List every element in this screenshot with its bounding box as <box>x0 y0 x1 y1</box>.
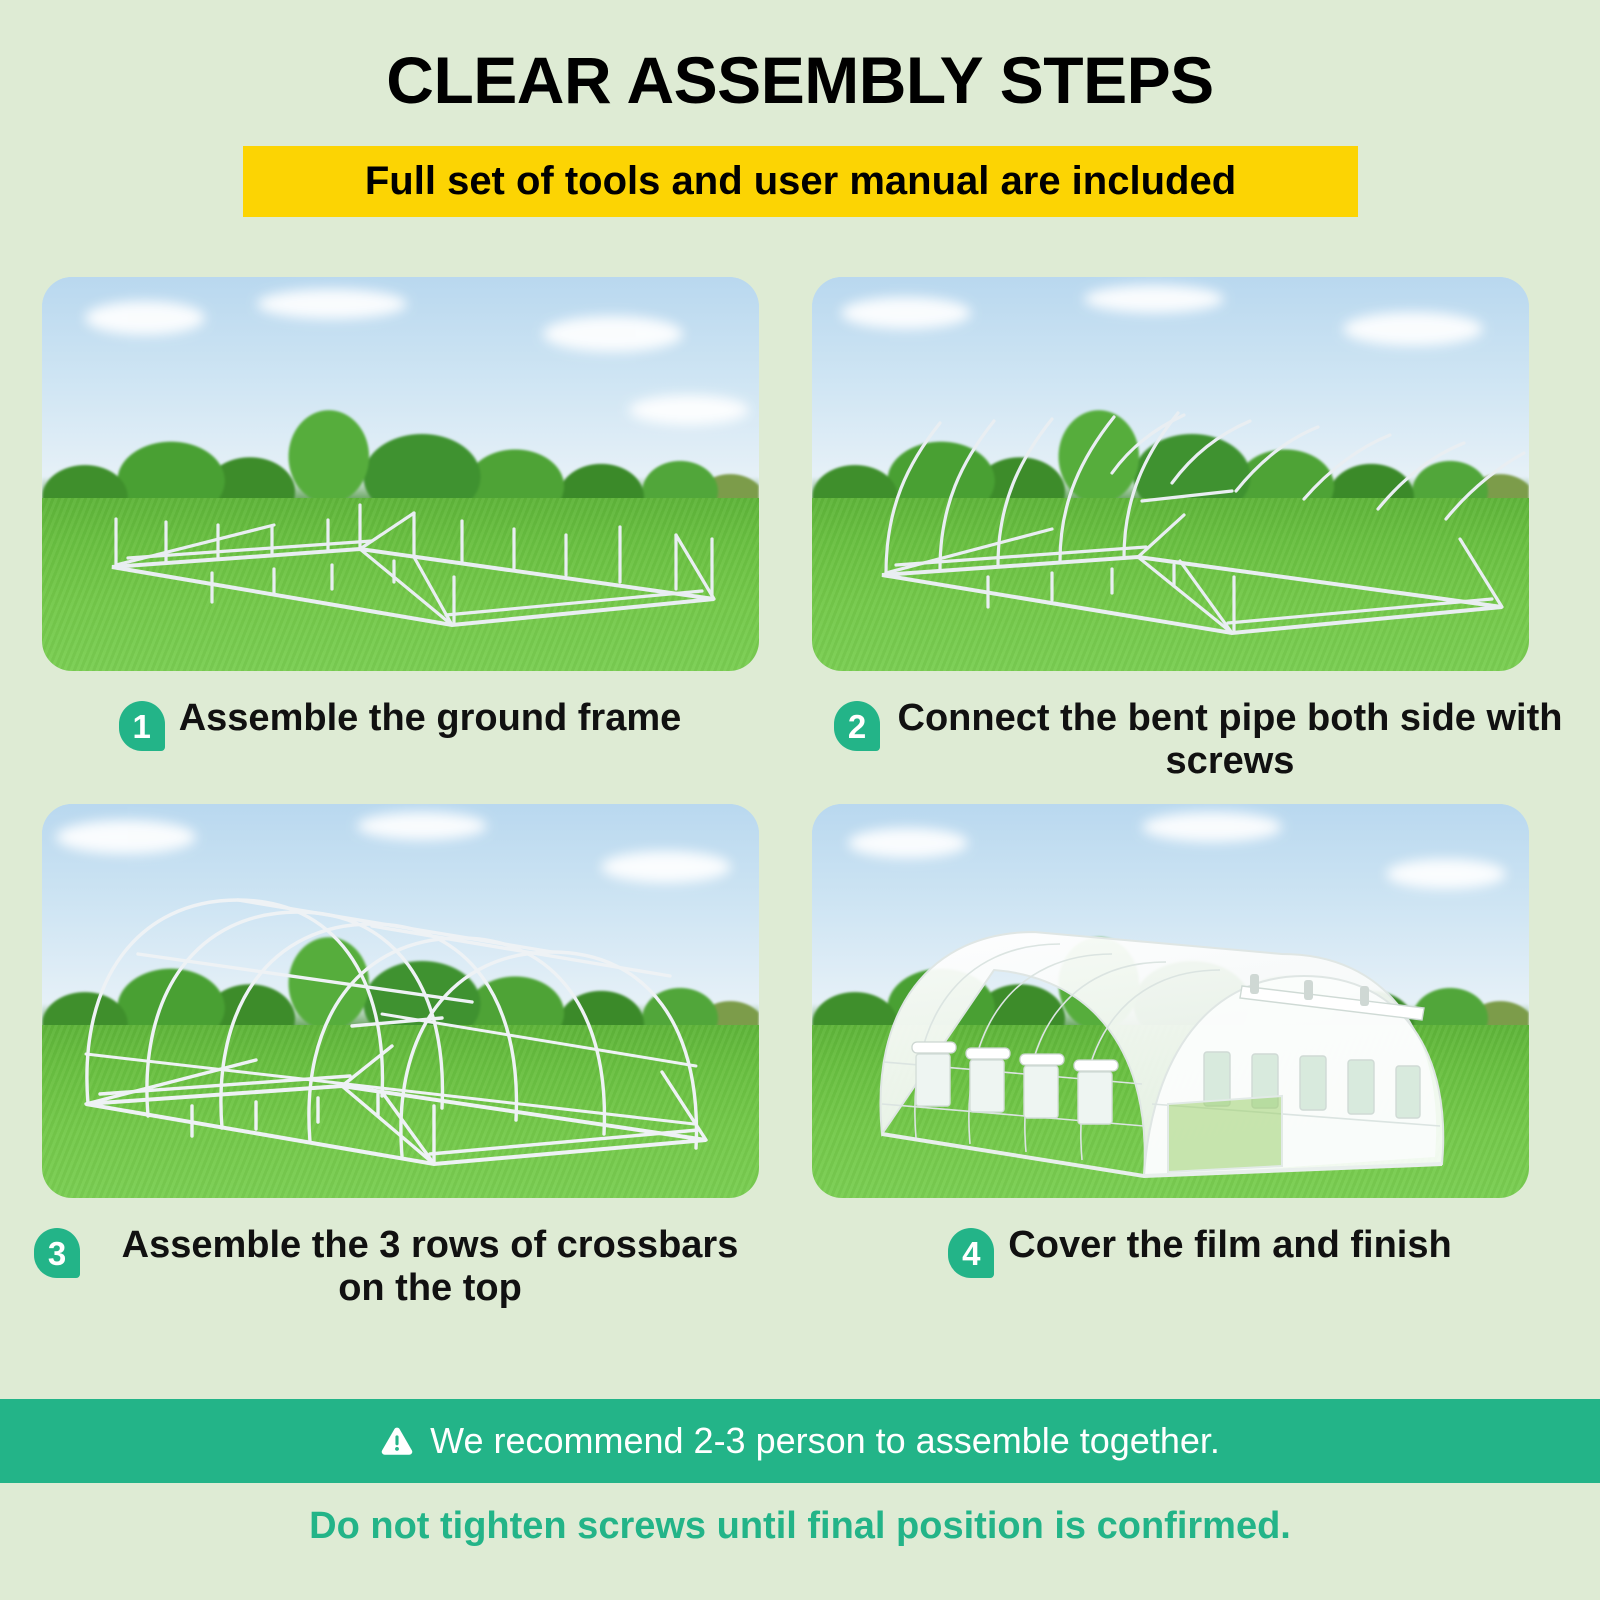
step-2-caption: 2 Connect the bent pipe both side with s… <box>800 671 1600 782</box>
recommendation-banner: We recommend 2-3 person to assemble toge… <box>0 1399 1600 1483</box>
step-label-4: Cover the film and finish <box>1008 1224 1451 1267</box>
steps-grid: 1 Assemble the ground frame <box>0 277 1600 1309</box>
step-1-photo <box>42 277 759 671</box>
step-label-1: Assemble the ground frame <box>179 697 682 740</box>
step-card-1: 1 Assemble the ground frame <box>0 277 800 782</box>
step-badge-1: 1 <box>119 701 165 751</box>
step-card-2: 2 Connect the bent pipe both side with s… <box>800 277 1600 782</box>
steps-row-1: 1 Assemble the ground frame <box>0 277 1600 782</box>
steps-row-2: 3 Assemble the 3 rows of crossbars on th… <box>0 804 1600 1309</box>
ground-frame-illustration <box>42 277 759 671</box>
recommendation-text: We recommend 2-3 person to assemble toge… <box>430 1420 1220 1462</box>
step-badge-4: 4 <box>948 1228 994 1278</box>
bent-pipe-frame-illustration <box>812 277 1529 671</box>
step-4-caption: 4 Cover the film and finish <box>800 1198 1600 1278</box>
step-2-photo <box>812 277 1529 671</box>
step-card-3: 3 Assemble the 3 rows of crossbars on th… <box>0 804 800 1309</box>
step-4-photo <box>812 804 1529 1198</box>
step-3-caption: 3 Assemble the 3 rows of crossbars on th… <box>0 1198 800 1309</box>
page-title: CLEAR ASSEMBLY STEPS <box>0 0 1600 115</box>
step-card-4: 4 Cover the film and finish <box>800 804 1600 1309</box>
step-3-photo <box>42 804 759 1198</box>
footer-tip-text: Do not tighten screws until final positi… <box>0 1505 1600 1548</box>
step-1-caption: 1 Assemble the ground frame <box>0 671 800 751</box>
step-label-3: Assemble the 3 rows of crossbars on the … <box>94 1224 766 1309</box>
crossbar-frame-illustration <box>42 804 759 1198</box>
step-label-2: Connect the bent pipe both side with scr… <box>894 697 1566 782</box>
step-badge-2: 2 <box>834 701 880 751</box>
warning-triangle-icon <box>380 1424 414 1458</box>
subtitle-text: Full set of tools and user manual are in… <box>365 159 1236 204</box>
covered-greenhouse-illustration <box>812 804 1529 1198</box>
subtitle-banner: Full set of tools and user manual are in… <box>243 146 1358 217</box>
step-badge-3: 3 <box>34 1228 80 1278</box>
